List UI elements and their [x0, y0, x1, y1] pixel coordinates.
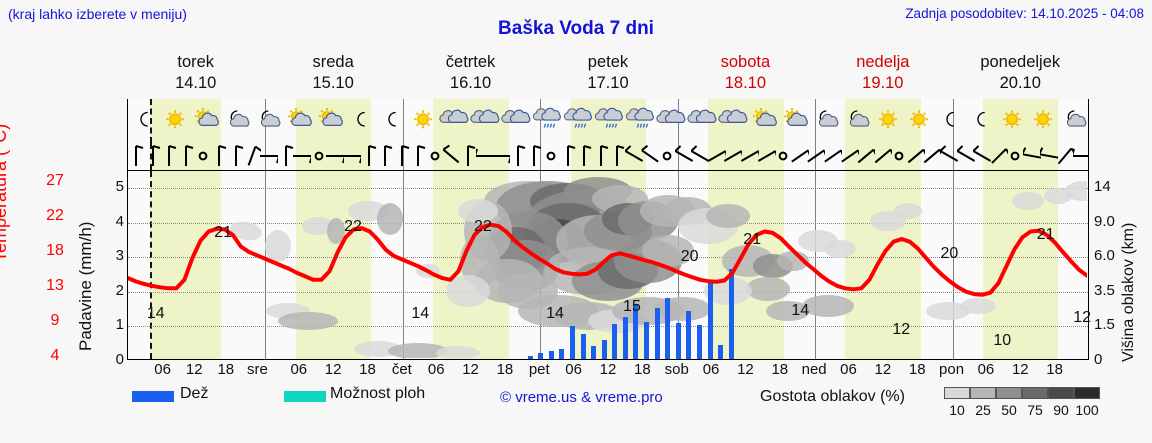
wind-barb [293, 144, 311, 168]
precipitation-tick: 3 [104, 247, 124, 264]
wind-barb [277, 144, 295, 168]
wind-barb [326, 144, 344, 168]
rain-legend-swatch [132, 391, 174, 402]
day-date: 15.10 [264, 73, 401, 94]
day-name: ponedeljek [980, 53, 1060, 71]
wind-barb [1023, 144, 1041, 168]
time-tick: čet [385, 361, 419, 378]
wind-barb [210, 144, 228, 168]
time-tick: 12 [728, 361, 762, 378]
cloudheight-tick: 14 [1094, 178, 1136, 195]
wind-barb [426, 144, 444, 168]
time-tick: 12 [591, 361, 625, 378]
sun-icon [1028, 107, 1058, 133]
last-updated: Zadnja posodobitev: 14.10.2025 - 04:08 [905, 6, 1144, 21]
temperature-tick: 4 [38, 347, 72, 365]
cloud-density-tick: 100 [1074, 402, 1100, 418]
cloud-icon [718, 107, 748, 133]
cloud-rain-icon [532, 107, 562, 133]
wind-barb [857, 144, 875, 168]
wind-barb-band [127, 143, 1089, 170]
temperature-tick: 13 [38, 277, 72, 295]
cloud-icon [501, 107, 531, 133]
cloudheight-tick: 9.0 [1094, 213, 1136, 230]
showers-legend-label: Možnost ploh [330, 385, 425, 403]
wind-barb [227, 144, 245, 168]
temperature-label: 22 [474, 218, 492, 236]
time-tick: pet [522, 361, 556, 378]
time-tick: 18 [209, 361, 243, 378]
wind-barb [658, 144, 676, 168]
wind-barb [1073, 144, 1089, 168]
temperature-label: 10 [993, 332, 1011, 350]
wind-barb [608, 144, 626, 168]
temperature-tick: 9 [38, 312, 72, 330]
time-tick: 06 [146, 361, 180, 378]
moon-cloud-icon [842, 107, 872, 133]
wind-barb [774, 144, 792, 168]
wind-barb [243, 144, 261, 168]
temperature-label: 14 [546, 305, 564, 323]
wind-barb [675, 144, 693, 168]
day-name: sreda [312, 53, 353, 71]
day-header-6: ponedeljek20.10 [952, 52, 1089, 97]
time-tick: 18 [625, 361, 659, 378]
time-tick: sob [660, 361, 694, 378]
sun-icon [408, 107, 438, 133]
day-header-1: sreda15.10 [264, 52, 401, 97]
day-name: četrtek [446, 53, 496, 71]
wind-barb [758, 144, 776, 168]
time-tick: 12 [177, 361, 211, 378]
time-tick: sre [240, 361, 274, 378]
day-date: 18.10 [677, 73, 814, 94]
cloud-icon [656, 107, 686, 133]
cloud-density-tick: 25 [970, 402, 996, 418]
wind-barb [459, 144, 477, 168]
moon-cloud-icon [222, 107, 252, 133]
wind-barb [625, 144, 643, 168]
precipitation-axis-title: Padavine (mm/h) [78, 175, 104, 365]
temperature-label: 12 [1073, 309, 1091, 327]
temperature-tick: 27 [38, 172, 72, 190]
day-date: 14.10 [127, 73, 264, 94]
sun-icon [873, 107, 903, 133]
wind-barb [492, 144, 510, 168]
wind-barb [592, 144, 610, 168]
temperature-label: 14 [147, 305, 165, 323]
temperature-curve [128, 171, 1087, 358]
cloud-density-swatch [1022, 387, 1048, 399]
wind-barb [525, 144, 543, 168]
cloud-rain-icon [563, 107, 593, 133]
sun-cloud-icon [780, 107, 810, 133]
time-tick: 06 [832, 361, 866, 378]
sun-icon [160, 107, 190, 133]
wind-barb [824, 144, 842, 168]
temperature-tick: 18 [38, 242, 72, 260]
temperature-axis-title: Temperatura (°C) [8, 178, 36, 358]
moon-icon [129, 107, 159, 133]
weather-icon-band [127, 99, 1089, 143]
wind-barb [393, 144, 411, 168]
wind-barb [360, 144, 378, 168]
day-date: 16.10 [402, 73, 539, 94]
wind-barb [940, 144, 958, 168]
wind-barb [708, 144, 726, 168]
temperature-label: 22 [344, 218, 362, 236]
rain-legend-label: Dež [180, 385, 208, 403]
time-tick: 06 [282, 361, 316, 378]
day-name: sobota [721, 53, 771, 71]
time-tick: 18 [763, 361, 797, 378]
cloud-density-swatch [944, 387, 970, 399]
cloud-density-legend-title: Gostota oblakov (%) [760, 388, 905, 406]
wind-barb [990, 144, 1008, 168]
sun-cloud-icon [749, 107, 779, 133]
time-tick: 12 [316, 361, 350, 378]
wind-barb [575, 144, 593, 168]
cloud-icon [687, 107, 717, 133]
wind-barb [1006, 144, 1024, 168]
day-header-5: nedelja19.10 [814, 52, 951, 97]
wind-barb [1056, 144, 1074, 168]
wind-barb [923, 144, 941, 168]
cloud-icon [439, 107, 469, 133]
temperature-label: 21 [743, 231, 761, 249]
wind-barb [542, 144, 560, 168]
day-header-0: torek14.10 [127, 52, 264, 97]
sun-cloud-icon [315, 107, 345, 133]
cloud-rain-icon [625, 107, 655, 133]
time-tick: 18 [488, 361, 522, 378]
temperature-label: 20 [941, 245, 959, 263]
moon-icon [346, 107, 376, 133]
moon-cloud-icon [253, 107, 283, 133]
cloud-density-swatch [996, 387, 1022, 399]
wind-barb [807, 144, 825, 168]
showers-legend-swatch [284, 391, 326, 402]
day-header-2: četrtek16.10 [402, 52, 539, 97]
time-tick: pon [935, 361, 969, 378]
cloud-density-swatch [1048, 387, 1074, 399]
wind-barb [874, 144, 892, 168]
time-tick: 18 [351, 361, 385, 378]
day-name: torek [177, 53, 214, 71]
page-title: Baška Voda 7 dni [0, 18, 1152, 40]
wind-barb [177, 144, 195, 168]
day-date: 20.10 [952, 73, 1089, 94]
wind-barb [509, 144, 527, 168]
sun-cloud-icon [284, 107, 314, 133]
cloud-rain-icon [594, 107, 624, 133]
wind-barb [724, 144, 742, 168]
temperature-tick: 22 [38, 207, 72, 225]
temperature-label: 21 [1037, 226, 1055, 244]
time-tick: 12 [1003, 361, 1037, 378]
time-tick: 06 [969, 361, 1003, 378]
wind-barb [907, 144, 925, 168]
precipitation-tick: 5 [104, 178, 124, 195]
temperature-label: 21 [214, 224, 232, 242]
cloud-density-tick: 50 [996, 402, 1022, 418]
temperature-label: 14 [411, 305, 429, 323]
wind-barb [841, 144, 859, 168]
time-tick: 18 [900, 361, 934, 378]
cloud-density-tick: 10 [944, 402, 970, 418]
wind-barb [641, 144, 659, 168]
wind-barb [890, 144, 908, 168]
cloud-density-tick: 90 [1048, 402, 1074, 418]
time-tick: 12 [866, 361, 900, 378]
wind-barb [791, 144, 809, 168]
day-header-row: torek14.10sreda15.10četrtek16.10petek17.… [127, 52, 1089, 97]
time-tick: 12 [454, 361, 488, 378]
wind-barb [559, 144, 577, 168]
forecast-plot [127, 170, 1089, 360]
day-header-3: petek17.10 [539, 52, 676, 97]
wind-barb [476, 144, 494, 168]
cloudheight-tick: 3.5 [1094, 282, 1136, 299]
time-tick: ned [797, 361, 831, 378]
temperature-label: 20 [681, 248, 699, 266]
wind-barb [1040, 144, 1058, 168]
wind-barb [194, 144, 212, 168]
wind-barb [376, 144, 394, 168]
wind-barb [442, 144, 460, 168]
sun-cloud-icon [191, 107, 221, 133]
moon-cloud-icon [811, 107, 841, 133]
wind-barb [260, 144, 278, 168]
wind-barb [343, 144, 361, 168]
cloudheight-tick: 6.0 [1094, 247, 1136, 264]
precipitation-tick: 2 [104, 282, 124, 299]
cloudheight-tick: 0 [1094, 351, 1136, 368]
copyright-link[interactable]: © vreme.us & vreme.pro [500, 389, 663, 406]
day-date: 17.10 [539, 73, 676, 94]
temperature-label: 14 [791, 302, 809, 320]
wind-barb [310, 144, 328, 168]
day-name: petek [588, 53, 628, 71]
time-tick: 06 [557, 361, 591, 378]
cloudheight-tick: 1.5 [1094, 316, 1136, 333]
wind-barb [160, 144, 178, 168]
moon-icon [935, 107, 965, 133]
sun-icon [904, 107, 934, 133]
moon-icon [966, 107, 996, 133]
moon-icon [377, 107, 407, 133]
precipitation-tick: 1 [104, 316, 124, 333]
cloudheight-axis-title: Višina oblakov (km) [1122, 172, 1148, 368]
day-name: nedelja [856, 53, 909, 71]
temperature-label: 12 [892, 321, 910, 339]
wind-barb [691, 144, 709, 168]
cloud-icon [470, 107, 500, 133]
sun-icon [997, 107, 1027, 133]
wind-barb [741, 144, 759, 168]
precipitation-tick: 0 [104, 351, 124, 368]
wind-barb [127, 144, 145, 168]
precipitation-tick: 4 [104, 213, 124, 230]
time-tick: 06 [694, 361, 728, 378]
cloud-density-tick: 75 [1022, 402, 1048, 418]
time-tick: 06 [419, 361, 453, 378]
wind-barb [409, 144, 427, 168]
cloud-density-swatch [1074, 387, 1100, 399]
time-tick: 18 [1038, 361, 1072, 378]
day-header-4: sobota18.10 [677, 52, 814, 97]
wind-barb [973, 144, 991, 168]
wind-barb [957, 144, 975, 168]
temperature-label: 15 [623, 298, 641, 316]
cloud-density-swatch [970, 387, 996, 399]
wind-barb [144, 144, 162, 168]
moon-cloud-icon [1059, 107, 1089, 133]
day-date: 19.10 [814, 73, 951, 94]
